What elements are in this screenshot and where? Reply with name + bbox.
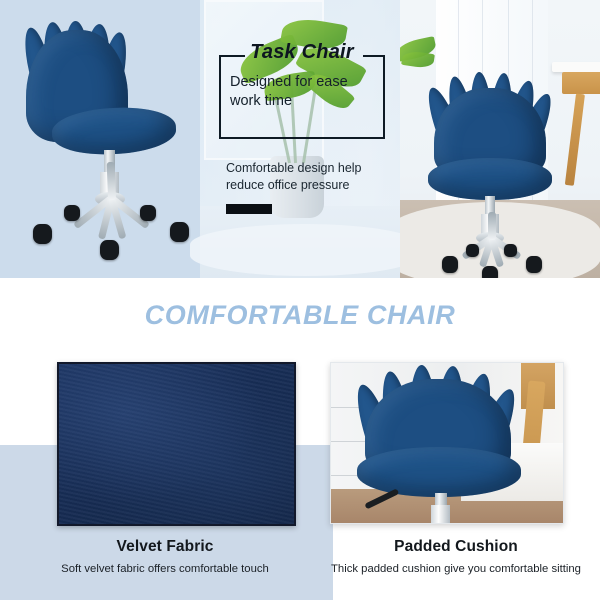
product-photo-left bbox=[0, 0, 205, 278]
feature-description: Soft velvet fabric offers comfortable to… bbox=[10, 562, 320, 577]
padded-cushion-photo bbox=[330, 362, 564, 524]
chair-closeup bbox=[355, 365, 535, 515]
chair-seat-cushion bbox=[357, 447, 521, 497]
callout-body: Designed for ease work time bbox=[230, 73, 380, 111]
chair-caster bbox=[466, 244, 479, 257]
chair-caster bbox=[170, 222, 189, 242]
velvet-fabric-swatch bbox=[57, 362, 296, 526]
top-panel: Task Chair Designed for ease work time C… bbox=[0, 0, 600, 278]
callout-title: Task Chair bbox=[221, 41, 383, 64]
chair-gas-cylinder bbox=[431, 505, 450, 523]
feature-caption-right: Padded Cushion Thick padded cushion give… bbox=[322, 538, 590, 577]
chair-base-leg bbox=[364, 488, 399, 509]
plant-accent bbox=[400, 36, 440, 70]
plant-leaf bbox=[401, 50, 435, 69]
chair-caster bbox=[140, 205, 156, 221]
chair-caster bbox=[526, 256, 542, 273]
chair-illustration bbox=[0, 0, 205, 278]
chair-illustration bbox=[422, 70, 562, 260]
section-heading: COMFORTABLE CHAIR bbox=[0, 300, 600, 331]
chair-caster bbox=[504, 244, 517, 257]
chair-caster bbox=[482, 266, 498, 278]
feature-title: Velvet Fabric bbox=[10, 538, 320, 556]
chair-caster bbox=[64, 205, 80, 221]
callout-frame: Task Chair Designed for ease work time bbox=[219, 57, 385, 139]
accent-bar bbox=[226, 204, 272, 214]
feature-description: Thick padded cushion give you comfortabl… bbox=[322, 562, 590, 577]
product-infographic: Task Chair Designed for ease work time C… bbox=[0, 0, 600, 600]
chair-caster bbox=[33, 224, 52, 244]
desk-drawer bbox=[562, 72, 600, 94]
chair-base-leg bbox=[107, 162, 116, 200]
chair-base-leg bbox=[488, 212, 496, 240]
feature-caption-left: Velvet Fabric Soft velvet fabric offers … bbox=[10, 538, 320, 577]
feature-title: Padded Cushion bbox=[322, 538, 590, 556]
rug-shape bbox=[190, 224, 420, 276]
chair-caster bbox=[442, 256, 458, 273]
chair-caster bbox=[100, 240, 119, 260]
chair-seat bbox=[428, 158, 552, 200]
product-photo-right bbox=[400, 0, 600, 278]
sub-copy-text: Comfortable design help reduce office pr… bbox=[226, 160, 386, 195]
